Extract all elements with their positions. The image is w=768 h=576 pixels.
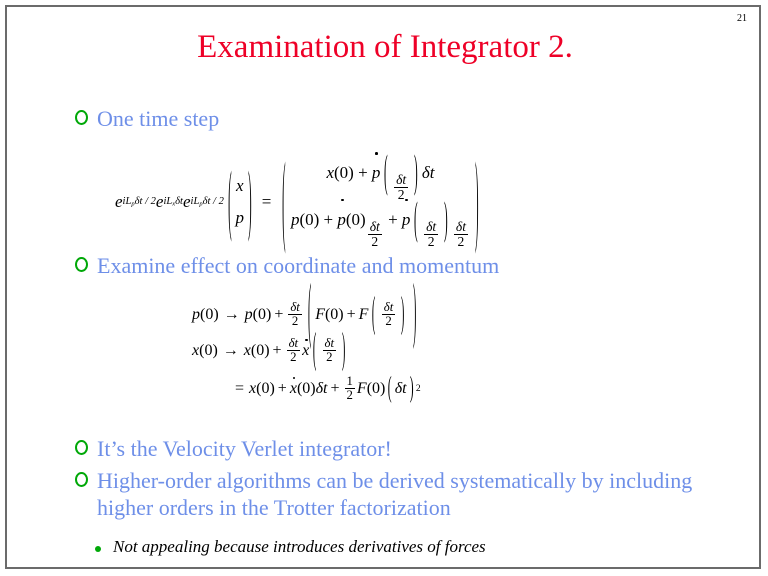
page-title: Examination of Integrator 2. (7, 29, 763, 66)
mom-inner-paren-open: ( (372, 290, 375, 339)
mom-paren-close: ) (413, 273, 416, 356)
vector-p: p (236, 202, 245, 234)
row2-plus2: + (388, 210, 398, 229)
bullet-label: It’s the Velocity Verlet integrator! (97, 435, 392, 462)
bullet-dot-icon (95, 546, 101, 552)
mom-lhs-p: p (192, 306, 200, 324)
equals-sign: = (262, 192, 272, 212)
matrix-paren-open: ( (282, 142, 285, 262)
bullet-label: One time step (97, 105, 219, 132)
coord-lhs-x: x (192, 342, 199, 360)
mom-frac2-num: δt (382, 301, 396, 315)
verlet-plus1: + (278, 380, 287, 398)
row1-pdot: p (372, 155, 381, 192)
equation-momentum-update: p(0) → p(0) + δt2 ( F(0) + F(δt2) ) (192, 301, 420, 328)
row1-dt: δt (422, 163, 435, 182)
matrix-paren-close: ) (475, 142, 478, 262)
slide-canvas: 21 Examination of Integrator 2. One time… (5, 5, 761, 569)
exp2-rest: δt (175, 196, 183, 207)
bullet-ring-icon (75, 440, 88, 455)
row1-plus: + (358, 163, 368, 182)
page-number: 21 (737, 13, 747, 24)
row2-frac3: δt2 (454, 220, 468, 249)
result-matrix: x(0) + p(δt2)δt p(0) + p(0)δt2 + p(δt2)δ… (291, 155, 470, 249)
verlet-F-arg: (0) (367, 380, 386, 398)
vector-x: x (236, 170, 244, 202)
matrix-row-1: x(0) + p(δt2)δt (326, 155, 434, 202)
mom-plus: + (274, 306, 283, 324)
row2-frac3-den: 2 (456, 235, 467, 249)
vector-paren-close: ) (248, 156, 252, 248)
sub-bullet-label: Not appealing because introduces derivat… (113, 537, 486, 557)
verlet-x0: x (249, 380, 256, 398)
vector-paren-open: ( (228, 156, 232, 248)
coord-frac2-num: δt (323, 337, 337, 351)
bullet-ring-icon (75, 472, 88, 487)
coord-xdot: x (302, 342, 309, 360)
verlet-xdot: x (290, 380, 297, 398)
row1-frac-num: δt (394, 173, 408, 188)
exp3-base: e (183, 192, 191, 212)
row2-frac1-den: 2 (369, 235, 380, 249)
row2-frac2: δt2 (424, 220, 438, 249)
coord-paren-close: ) (342, 326, 345, 375)
bullet-label: Higher-order algorithms can be derived s… (97, 467, 705, 521)
bullet-label: Examine effect on coordinate and momentu… (97, 252, 499, 279)
mom-rhs-p: p (245, 306, 253, 324)
bullet-item-examine-effect[interactable]: Examine effect on coordinate and momentu… (75, 252, 499, 279)
verlet-half-num: 1 (345, 375, 355, 389)
row2-plus1: + (324, 210, 334, 229)
mom-arrow: → (224, 306, 240, 324)
coord-paren-open: ( (313, 326, 316, 375)
row2-pdot1: p (337, 202, 346, 239)
mom-inner-paren-close: ) (401, 290, 404, 339)
row2-frac1-num: δt (368, 220, 382, 235)
coord-rhs-arg: (0) (251, 342, 270, 360)
bullet-item-one-time-step[interactable]: One time step (75, 105, 219, 132)
state-vector: x p (236, 170, 245, 235)
coord-frac: δt2 (287, 337, 301, 364)
row2-arg: (0) (299, 210, 319, 229)
matrix-row-2: p(0) + p(0)δt2 + p(δt2)δt2 (291, 202, 470, 249)
row2-frac2-den: 2 (426, 235, 437, 249)
exp1-rest: δt / 2 (135, 196, 156, 207)
mom-F1-arg: (0) (325, 306, 344, 324)
coord-arrow: → (223, 342, 239, 360)
exp1-base: e (115, 192, 123, 212)
mom-F2: F (359, 306, 369, 324)
row1-arg: (0) (334, 163, 354, 182)
verlet-F: F (357, 380, 367, 398)
coord-frac-num: δt (287, 337, 301, 351)
coord-plus: + (273, 342, 282, 360)
row1-paren-open: ( (384, 124, 388, 223)
verlet-half: 12 (345, 375, 355, 402)
coord-frac2: δt2 (323, 337, 337, 364)
sub-bullet-item-not-appealing[interactable]: Not appealing because introduces derivat… (95, 537, 486, 557)
verlet-dt2: δt (395, 380, 407, 398)
mom-lhs-arg: (0) (200, 306, 219, 324)
exp3-rest: δt / 2 (203, 196, 224, 207)
equation-propagator: eiLpδt / 2eiLxδteiLpδt / 2 ( x p ) = ( x… (115, 155, 484, 249)
row2-pdot2: p (402, 202, 411, 239)
verlet-paren-open: ( (388, 372, 392, 405)
bullet-item-higher-order[interactable]: Higher-order algorithms can be derived s… (75, 467, 705, 521)
verlet-half-den: 2 (345, 389, 355, 402)
row2-frac1: δt2 (368, 220, 382, 249)
verlet-paren-close: ) (409, 372, 413, 405)
verlet-equals: = (235, 380, 244, 398)
mom-plus2: + (347, 306, 356, 324)
row2-frac2-num: δt (424, 220, 438, 235)
bullet-item-velocity-verlet[interactable]: It’s the Velocity Verlet integrator! (75, 435, 392, 462)
mom-frac-num: δt (288, 301, 302, 315)
row1-x: x (326, 163, 334, 182)
equation-coordinate-update: x(0) → x(0) + δt2 x(δt2) (192, 337, 349, 364)
verlet-x0-arg: (0) (256, 380, 275, 398)
coord-rhs-x: x (244, 342, 251, 360)
mom-rhs-arg: (0) (253, 306, 272, 324)
row2-frac3-num: δt (454, 220, 468, 235)
row2-arg1: (0) (346, 210, 366, 229)
bullet-ring-icon (75, 110, 88, 125)
verlet-xdot-arg: (0) (297, 380, 316, 398)
bullet-ring-icon (75, 257, 88, 272)
row1-frac: δt2 (394, 173, 408, 202)
exp2-base: e (156, 192, 164, 212)
equation-verlet-expansion: = x(0) + x(0)δt + 12 F(0)(δt)2 (235, 375, 421, 402)
coord-frac2-den: 2 (324, 351, 334, 364)
mom-frac-den: 2 (290, 315, 300, 328)
mom-frac: δt2 (288, 301, 302, 328)
verlet-plus2: + (330, 380, 339, 398)
coord-lhs-arg: (0) (199, 342, 218, 360)
mom-frac2: δt2 (382, 301, 396, 328)
coord-frac-den: 2 (288, 351, 298, 364)
verlet-dt: δt (316, 380, 328, 398)
mom-frac2-den: 2 (383, 315, 393, 328)
mom-F1: F (315, 306, 325, 324)
verlet-power: 2 (416, 383, 421, 394)
